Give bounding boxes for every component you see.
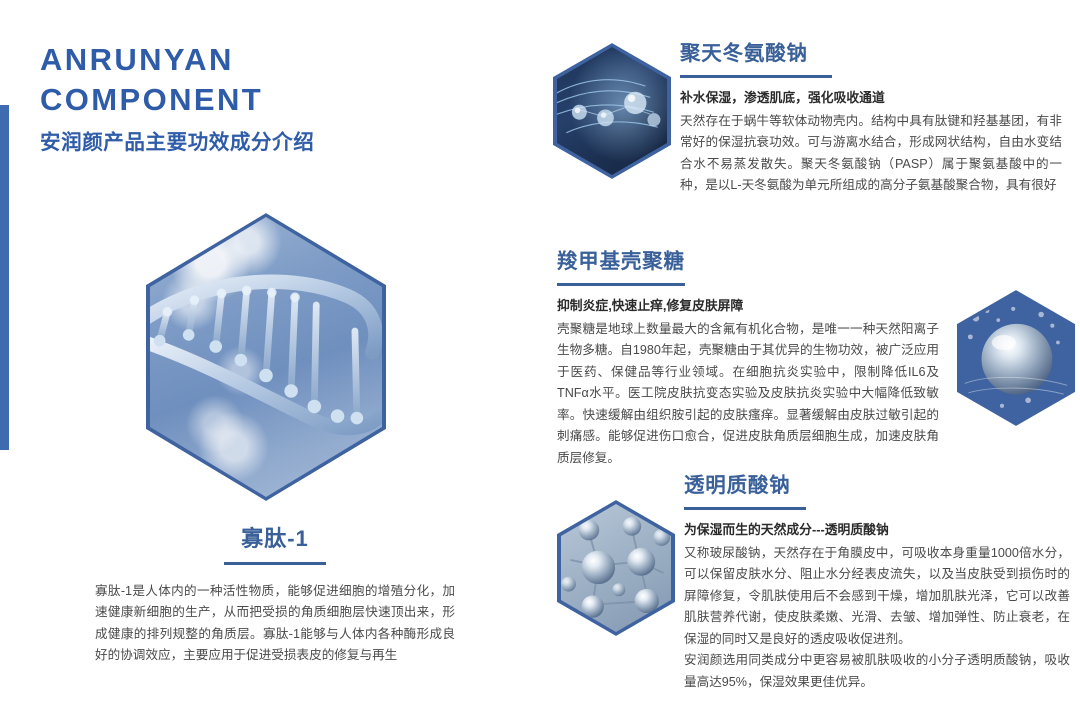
masthead: ANRUNYAN COMPONENT 安润颜产品主要功效成分介绍 xyxy=(40,40,520,158)
page-subtitle: 安润颜产品主要功效成分介绍 xyxy=(40,128,520,158)
poster-canvas: ANRUNYAN COMPONENT 安润颜产品主要功效成分介绍 xyxy=(0,0,1080,720)
left-article-body: 寡肽-1是人体内的一种活性物质，能够促进细胞的增殖分化，加速健康新细胞的生产，从… xyxy=(95,581,455,667)
brand-name-line2: COMPONENT xyxy=(40,80,520,120)
section-title: 聚天冬氨酸钠 xyxy=(680,40,1062,68)
section-title: 透明质酸钠 xyxy=(684,472,1070,500)
section-title: 羧甲基壳聚糖 xyxy=(557,248,939,276)
section-underline xyxy=(684,507,806,510)
molecule-spheres-hexagon xyxy=(557,500,675,636)
section-pasp: 聚天冬氨酸钠 补水保湿，渗透肌底，强化吸收通道 天然存在于蜗牛等软体动物壳内。结… xyxy=(680,40,1062,197)
left-accent-bar xyxy=(0,105,9,450)
left-article-title: 寡肽-1 xyxy=(95,524,455,554)
molecular-chain-hexagon xyxy=(553,43,671,179)
section-body: 壳聚糖是地球上数量最大的含氟有机化合物，是唯一一种天然阳离子生物多糖。自1980… xyxy=(557,319,939,470)
water-droplet-hexagon xyxy=(957,290,1075,426)
section-body: 又称玻尿酸钠，天然存在于角膜皮中，可吸收本身重量1000倍水分，可以保留皮肤水分… xyxy=(684,543,1070,694)
section-chitosan: 羧甲基壳聚糖 抑制炎症,快速止痒,修复皮肤屏障 壳聚糖是地球上数量最大的含氟有机… xyxy=(557,248,939,469)
section-underline xyxy=(557,283,685,286)
left-article-underline xyxy=(224,562,326,565)
hexagon-image-fill xyxy=(150,217,382,497)
brand-name-line1: ANRUNYAN xyxy=(40,40,520,80)
section-subtitle: 抑制炎症,快速止痒,修复皮肤屏障 xyxy=(557,296,939,316)
dna-helix-icon xyxy=(150,217,382,495)
section-subtitle: 为保湿而生的天然成分---透明质酸钠 xyxy=(684,520,1070,540)
section-ha: 透明质酸钠 为保湿而生的天然成分---透明质酸钠 又称玻尿酸钠，天然存在于角膜皮… xyxy=(684,472,1070,693)
section-subtitle: 补水保湿，渗透肌底，强化吸收通道 xyxy=(680,88,1062,108)
section-underline xyxy=(680,75,832,78)
section-body: 天然存在于蜗牛等软体动物壳内。结构中具有肽键和羟基基团，有非常好的保湿抗衰功效。… xyxy=(680,111,1062,197)
left-article: 寡肽-1 寡肽-1是人体内的一种活性物质，能够促进细胞的增殖分化，加速健康新细胞… xyxy=(95,524,455,667)
dna-helix-hexagon xyxy=(146,213,386,501)
